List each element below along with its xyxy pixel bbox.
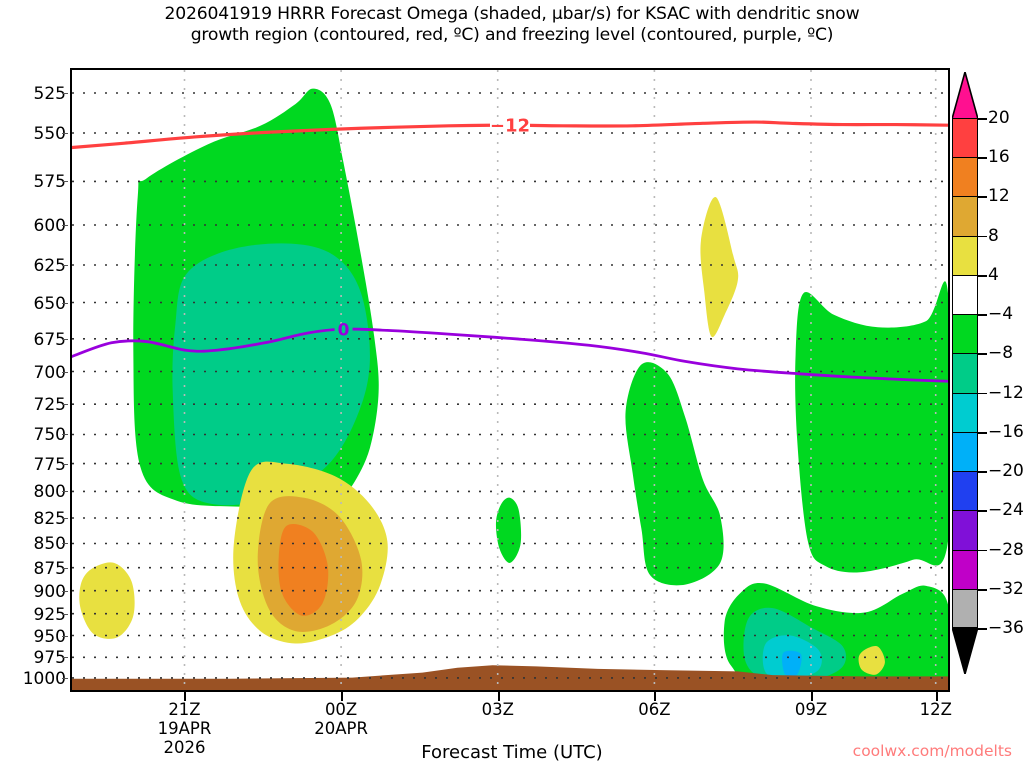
y-axis-tick-825 xyxy=(62,518,68,519)
y-axis-tick-875 xyxy=(62,568,68,569)
y-axis-label-750: 750 xyxy=(2,425,66,445)
colorbar-tick-12 xyxy=(978,196,987,198)
shaded-region-mid-green-diagonal xyxy=(625,362,723,585)
x-axis-label-09Z: 09Z xyxy=(751,700,871,719)
y-axis-label-875: 875 xyxy=(2,559,66,579)
colorbar-segment-−4 xyxy=(953,315,977,354)
x-axis-label-06Z: 06Z xyxy=(594,700,714,719)
y-axis-tick-925 xyxy=(62,614,68,615)
y-axis-tick-550 xyxy=(62,133,68,134)
colorbar-cap-bottom xyxy=(952,627,978,674)
watermark: coolwx.com/modelts xyxy=(853,742,1012,760)
y-axis-label-975: 975 xyxy=(2,648,66,668)
shaded-region-small-yellow-blob-left xyxy=(79,562,134,639)
y-axis-tick-725 xyxy=(62,404,68,405)
y-axis-tick-950 xyxy=(62,636,68,637)
colorbar-segment-20 xyxy=(953,119,977,158)
shaded-region-late-green-column xyxy=(795,281,948,572)
y-axis-tick-650 xyxy=(62,303,68,304)
y-axis-label-600: 600 xyxy=(2,216,66,236)
title-line-1: 2026041919 HRRR Forecast Omega (shaded, … xyxy=(0,4,1024,25)
colorbar-segment-−32 xyxy=(953,590,977,629)
y-axis-label-825: 825 xyxy=(2,509,66,529)
y-axis-tick-1000 xyxy=(62,678,68,679)
colorbar-segment-12 xyxy=(953,197,977,236)
colorbar-label-−16: −16 xyxy=(988,422,1024,442)
y-axis-tick-850 xyxy=(62,543,68,544)
y-axis-tick-900 xyxy=(62,591,68,592)
colorbar-tick-−32 xyxy=(978,589,987,591)
colorbar-label-−36: −36 xyxy=(988,618,1024,638)
colorbar-tick-−8 xyxy=(978,353,987,355)
colorbar-label-16: 16 xyxy=(988,147,1010,167)
y-axis-tick-600 xyxy=(62,225,68,226)
colorbar-label-−8: −8 xyxy=(988,343,1013,363)
y-axis-label-525: 525 xyxy=(2,84,66,104)
chart-root: 2026041919 HRRR Forecast Omega (shaded, … xyxy=(0,0,1024,768)
shaded-region-small-green-blob-mid xyxy=(496,498,521,563)
plot-area: −120 xyxy=(70,68,950,692)
y-axis-tick-675 xyxy=(62,339,68,340)
y-axis-label-1000: 1000 xyxy=(2,669,66,689)
x-axis-label-00Z: 00Z20APR xyxy=(281,700,401,738)
title-line-2: growth region (contoured, red, ºC) and f… xyxy=(0,25,1024,46)
y-axis-label-575: 575 xyxy=(2,172,66,192)
colorbar-tick-8 xyxy=(978,236,987,238)
y-axis-label-550: 550 xyxy=(2,124,66,144)
x-axis-label-03Z: 03Z xyxy=(438,700,558,719)
x-axis-label-date: 20APR xyxy=(281,719,401,738)
colorbar-tick-−20 xyxy=(978,471,987,473)
colorbar-segment-−20 xyxy=(953,472,977,511)
colorbar-segment-−28 xyxy=(953,551,977,590)
colorbar-tick-16 xyxy=(978,157,987,159)
colorbar-tick-−4 xyxy=(978,314,987,316)
colorbar-label-20: 20 xyxy=(988,108,1010,128)
colorbar-cap-top xyxy=(952,72,978,119)
colorbar-label-−12: −12 xyxy=(988,383,1024,403)
colorbar-label-8: 8 xyxy=(988,226,999,246)
y-axis-label-925: 925 xyxy=(2,605,66,625)
y-axis-label-950: 950 xyxy=(2,627,66,647)
colorbar-label-−28: −28 xyxy=(988,540,1024,560)
y-axis-tick-800 xyxy=(62,491,68,492)
x-axis-label-time: 03Z xyxy=(482,700,514,719)
y-axis-label-625: 625 xyxy=(2,256,66,276)
x-axis-label-12Z: 12Z xyxy=(876,700,996,719)
y-axis-label-900: 900 xyxy=(2,582,66,602)
y-axis-label-700: 700 xyxy=(2,363,66,383)
x-axis-label-time: 09Z xyxy=(795,700,827,719)
colorbar-segment-−8 xyxy=(953,354,977,393)
y-axis-label-650: 650 xyxy=(2,294,66,314)
colorbar-label-12: 12 xyxy=(988,186,1010,206)
colorbar-label-−4: −4 xyxy=(988,304,1013,324)
colorbar-tick-20 xyxy=(978,118,987,120)
shaded-region-mid-level-yellow-sliver xyxy=(700,197,738,337)
colorbar-label-4: 4 xyxy=(988,265,999,285)
colorbar-top-arrow xyxy=(952,72,978,119)
y-axis-label-675: 675 xyxy=(2,330,66,350)
colorbar-label-−24: −24 xyxy=(988,500,1024,520)
y-axis-label-775: 775 xyxy=(2,455,66,475)
y-axis-tick-975 xyxy=(62,657,68,658)
colorbar-segment-−16 xyxy=(953,433,977,472)
y-axis-tick-750 xyxy=(62,434,68,435)
omega-shading xyxy=(72,70,948,690)
colorbar-segment-4 xyxy=(953,276,977,315)
colorbar-segment-8 xyxy=(953,237,977,276)
colorbar-tick-−28 xyxy=(978,550,987,552)
y-axis-tick-525 xyxy=(62,93,68,94)
colorbar-tick-−24 xyxy=(978,510,987,512)
y-axis-label-850: 850 xyxy=(2,534,66,554)
colorbar-tick-−36 xyxy=(978,628,987,630)
page-title: 2026041919 HRRR Forecast Omega (shaded, … xyxy=(0,4,1024,46)
x-axis-label-time: 12Z xyxy=(920,700,952,719)
colorbar-tick-−16 xyxy=(978,432,987,434)
y-axis-label-725: 725 xyxy=(2,395,66,415)
colorbar-segment-−24 xyxy=(953,511,977,550)
colorbar-tick-−12 xyxy=(978,393,987,395)
colorbar: 20161284−4−8−12−16−20−24−28−32−36 xyxy=(952,72,1024,692)
x-axis-label-time: 06Z xyxy=(638,700,670,719)
y-axis: 5255505756006256506757007257507758008258… xyxy=(0,68,66,692)
y-axis-tick-775 xyxy=(62,464,68,465)
colorbar-label-−32: −32 xyxy=(988,579,1024,599)
y-axis-tick-625 xyxy=(62,265,68,266)
x-axis-label-time: 21Z xyxy=(168,700,200,719)
x-axis-label-date: 19APR xyxy=(124,719,244,738)
colorbar-segment-−12 xyxy=(953,394,977,433)
colorbar-body xyxy=(952,118,978,628)
colorbar-bottom-arrow xyxy=(952,627,978,674)
y-axis-label-800: 800 xyxy=(2,482,66,502)
y-axis-tick-700 xyxy=(62,372,68,373)
y-axis-tick-575 xyxy=(62,181,68,182)
x-axis-label-time: 00Z xyxy=(325,700,357,719)
colorbar-label-−20: −20 xyxy=(988,461,1024,481)
colorbar-segment-16 xyxy=(953,158,977,197)
colorbar-tick-4 xyxy=(978,275,987,277)
